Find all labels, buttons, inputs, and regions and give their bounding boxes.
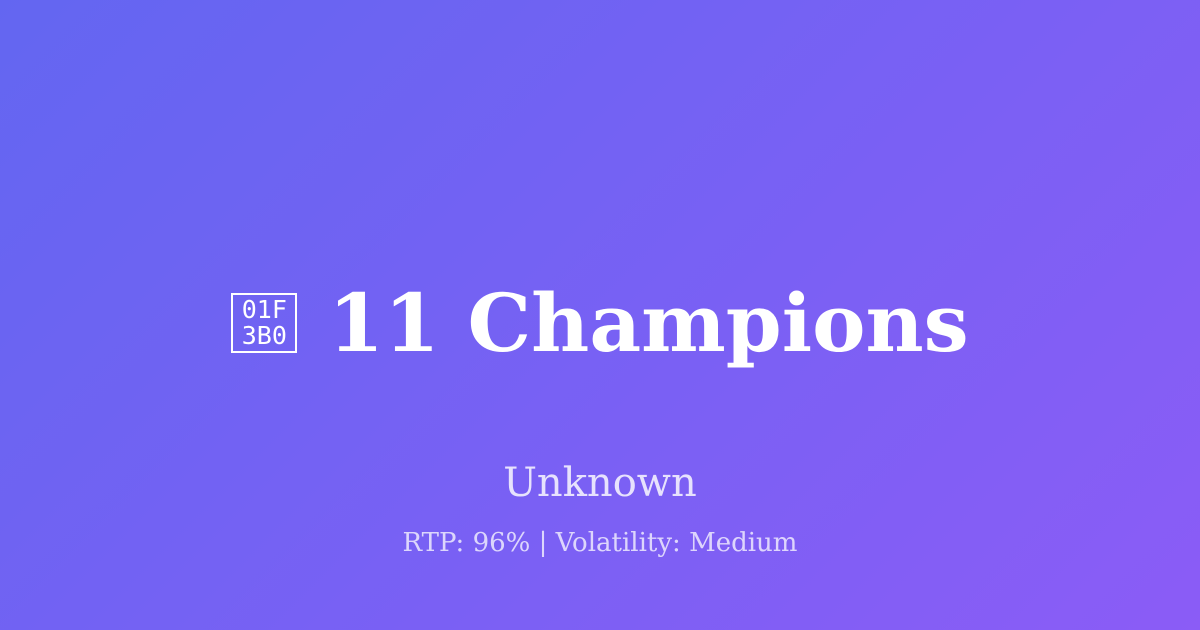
game-provider: Unknown (503, 462, 697, 504)
slot-machine-icon-codepoint-top: 01F (242, 297, 287, 323)
slot-machine-icon-codepoint-bottom: 3B0 (242, 323, 287, 349)
game-stats-line: RTP: 96% | Volatility: Medium (0, 528, 1200, 558)
game-title: 11 Champions (328, 283, 968, 363)
hero-block: 01F 3B0 11 Champions Unknown (0, 229, 1200, 504)
slot-machine-icon: 01F 3B0 (231, 293, 297, 353)
title-row: 01F 3B0 11 Champions (231, 229, 968, 416)
game-preview-card: 01F 3B0 11 Champions Unknown RTP: 96% | … (0, 0, 1200, 630)
